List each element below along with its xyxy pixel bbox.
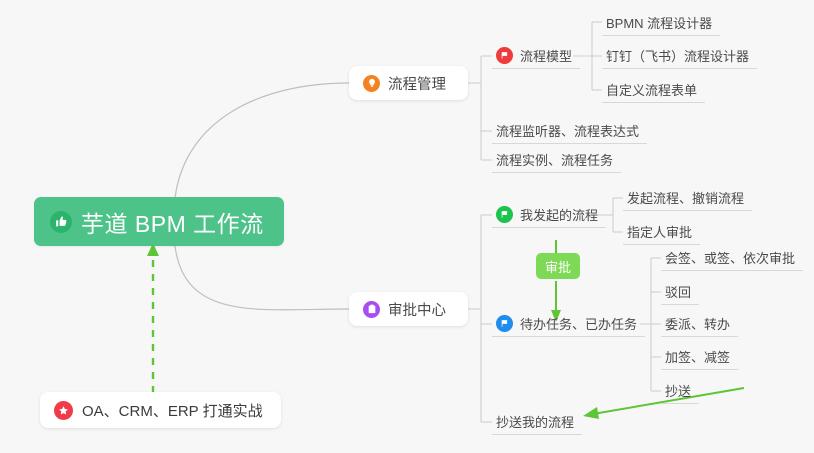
leaf-label: 钉钉（飞书）流程设计器 — [606, 46, 749, 65]
flag-icon — [496, 206, 513, 223]
node-process-model[interactable]: 流程模型 — [492, 42, 580, 69]
branch-label: 审批中心 — [388, 299, 446, 320]
mindmap-canvas: 芋道 BPM 工作流 流程管理 流程模型 BPMN 流程设计器 钉钉（飞书）流程… — [0, 0, 814, 453]
thumbs-up-icon — [50, 211, 72, 233]
leaf-label: 流程监听器、流程表达式 — [496, 121, 639, 140]
leaf-label: 指定人审批 — [627, 222, 692, 241]
branch-process-management[interactable]: 流程管理 — [349, 66, 468, 100]
leaf-label: 自定义流程表单 — [606, 80, 697, 99]
flag-icon — [496, 47, 513, 64]
leaf-assignee-approval[interactable]: 指定人审批 — [623, 218, 700, 245]
root-node[interactable]: 芋道 BPM 工作流 — [34, 197, 284, 246]
clipboard-icon — [363, 301, 380, 318]
root-label: 芋道 BPM 工作流 — [81, 205, 264, 239]
leaf-cc[interactable]: 抄送 — [661, 377, 699, 404]
leaf-delegate-transfer[interactable]: 委派、转办 — [661, 310, 738, 337]
node-label: 待办任务、已办任务 — [520, 314, 637, 333]
approval-tag-label: 审批 — [545, 257, 571, 276]
leaf-reject[interactable]: 驳回 — [661, 278, 699, 305]
leaf-dingtalk-designer[interactable]: 钉钉（飞书）流程设计器 — [602, 42, 757, 69]
lightbulb-icon — [363, 75, 380, 92]
leaf-label: 驳回 — [665, 282, 691, 301]
node-label: 流程模型 — [520, 46, 572, 65]
approval-tag[interactable]: 审批 — [536, 253, 580, 279]
node-todo-done-tasks[interactable]: 待办任务、已办任务 — [492, 310, 645, 337]
leaf-instance-task[interactable]: 流程实例、流程任务 — [492, 146, 621, 173]
leaf-label: 抄送我的流程 — [496, 412, 574, 431]
callout-label: OA、CRM、ERP 打通实战 — [82, 400, 263, 421]
leaf-label: BPMN 流程设计器 — [606, 13, 712, 32]
leaf-custom-form[interactable]: 自定义流程表单 — [602, 76, 705, 103]
leaf-start-cancel-process[interactable]: 发起流程、撤销流程 — [623, 184, 752, 211]
callout-integration-practice[interactable]: OA、CRM、ERP 打通实战 — [40, 392, 281, 428]
leaf-bpmn-designer[interactable]: BPMN 流程设计器 — [602, 9, 720, 36]
star-icon — [54, 401, 73, 420]
node-my-initiated-processes[interactable]: 我发起的流程 — [492, 201, 606, 228]
leaf-label: 加签、减签 — [665, 347, 730, 366]
branch-label: 流程管理 — [388, 73, 446, 94]
leaf-add-remove-sign[interactable]: 加签、减签 — [661, 343, 738, 370]
node-label: 我发起的流程 — [520, 205, 598, 224]
leaf-label: 会签、或签、依次审批 — [665, 248, 795, 267]
branch-approval-center[interactable]: 审批中心 — [349, 292, 468, 326]
leaf-cc-to-me[interactable]: 抄送我的流程 — [492, 408, 582, 435]
flag-icon — [496, 315, 513, 332]
leaf-label: 委派、转办 — [665, 314, 730, 333]
leaf-label: 发起流程、撤销流程 — [627, 188, 744, 207]
leaf-label: 抄送 — [665, 381, 691, 400]
leaf-countersign[interactable]: 会签、或签、依次审批 — [661, 244, 803, 271]
leaf-label: 流程实例、流程任务 — [496, 150, 613, 169]
leaf-listener-expression[interactable]: 流程监听器、流程表达式 — [492, 117, 647, 144]
